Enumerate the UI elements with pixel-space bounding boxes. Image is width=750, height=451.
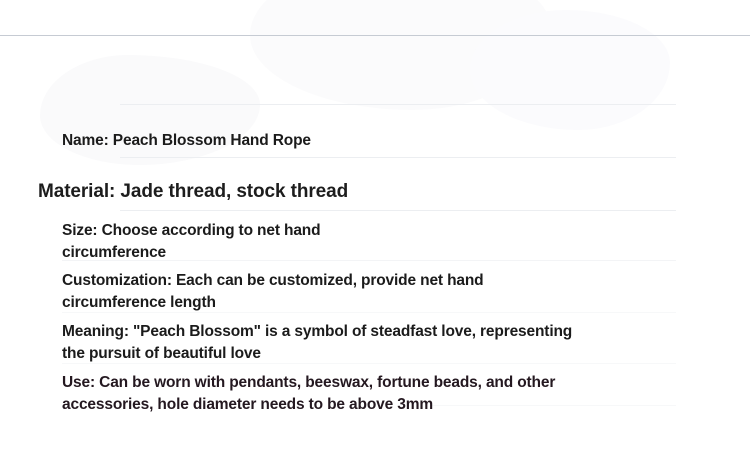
row-divider-above-name	[120, 104, 676, 105]
background-watermark-blob	[250, 0, 550, 110]
row-divider-material-size	[120, 210, 676, 211]
row-divider-name-material	[120, 157, 676, 158]
spec-row-size: Size: Choose according to net hand circu…	[62, 220, 662, 264]
top-divider	[0, 35, 750, 36]
spec-row-meaning-text: Meaning: "Peach Blossom" is a symbol of …	[62, 321, 682, 365]
spec-row-material: Material: Jade thread, stock thread	[38, 179, 678, 205]
spec-row-customization: Customization: Each can be customized, p…	[62, 270, 682, 314]
spec-row-meaning: Meaning: "Peach Blossom" is a symbol of …	[62, 321, 682, 365]
spec-row-use: Use: Can be worn with pendants, beeswax,…	[62, 372, 682, 416]
spec-row-size-text: Size: Choose according to net hand circu…	[62, 220, 662, 264]
spec-row-material-text: Material: Jade thread, stock thread	[38, 179, 678, 205]
spec-row-customization-text: Customization: Each can be customized, p…	[62, 270, 682, 314]
spec-row-use-text: Use: Can be worn with pendants, beeswax,…	[62, 372, 682, 416]
background-watermark-blob	[470, 10, 670, 130]
product-spec-sheet: Name: Peach Blossom Hand Rope Material: …	[0, 0, 750, 451]
spec-row-name: Name: Peach Blossom Hand Rope	[62, 130, 662, 151]
spec-row-name-text: Name: Peach Blossom Hand Rope	[62, 130, 662, 151]
